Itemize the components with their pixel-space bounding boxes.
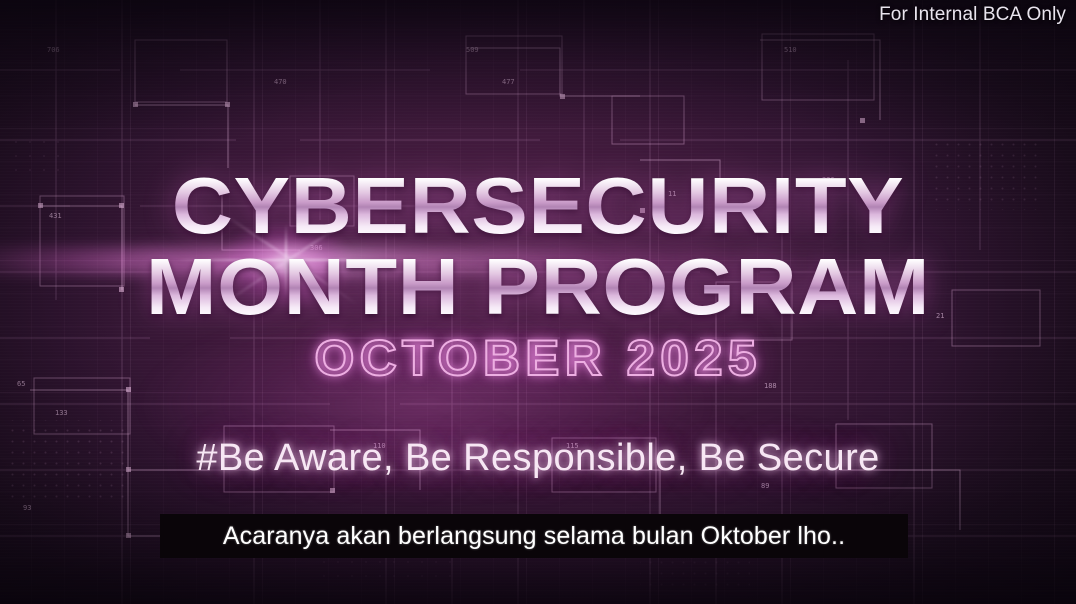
page-title-line-2: MONTH PROGRAM	[0, 249, 1076, 324]
tagline: #Be Aware, Be Responsible, Be Secure	[0, 437, 1076, 480]
title-block: CYBERSECURITY MONTH PROGRAM	[0, 168, 1076, 324]
subtitle-bar: Acaranya akan berlangsung selama bulan O…	[160, 514, 908, 558]
event-date-heading: OCTOBER 2025	[0, 329, 1076, 387]
page-title-line-1: CYBERSECURITY	[0, 168, 1076, 243]
subtitle-text: Acaranya akan berlangsung selama bulan O…	[223, 522, 845, 551]
promo-slide: 706 509 510 470 477 431 306 326 188 65 1…	[0, 0, 1076, 604]
internal-use-notice: For Internal BCA Only	[879, 4, 1066, 26]
